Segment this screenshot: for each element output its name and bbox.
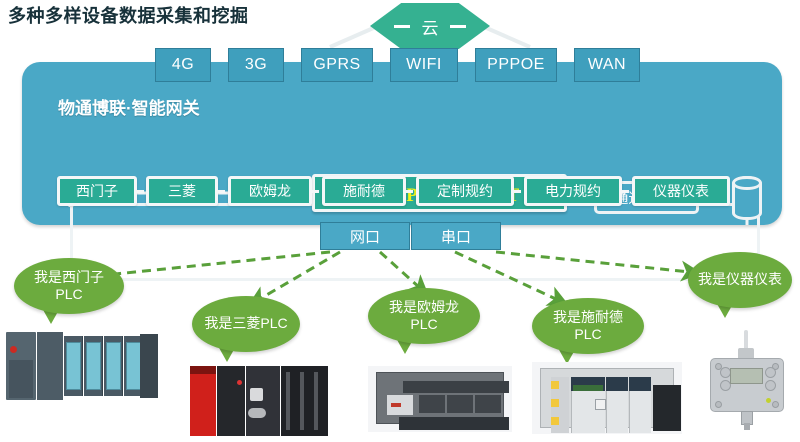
access-tech-label: GPRS	[313, 56, 360, 74]
database-cylinder-top-icon	[732, 176, 762, 190]
driver-chip-connector	[312, 190, 319, 193]
port-box-1[interactable]: 串口	[411, 222, 501, 250]
driver-chip-label: 定制规约	[437, 181, 493, 201]
schneider-tab	[551, 417, 559, 425]
schneider-rack	[540, 368, 674, 428]
siemens-cpu-module	[37, 332, 63, 400]
driver-chip-connector	[622, 190, 629, 193]
access-tech-wan[interactable]: WAN	[574, 48, 640, 82]
driver-chip-connector	[137, 190, 144, 193]
access-tech-label: PPPOE	[487, 56, 545, 74]
gateway-title: 物通博联·智能网关	[58, 94, 200, 119]
speech-bubble-3: 我是施耐德PLC	[532, 298, 644, 354]
driver-chip-label: 欧姆龙	[249, 181, 291, 201]
schneider-plc-image	[532, 362, 682, 434]
mitsubishi-status-led	[237, 380, 242, 385]
access-tech-wifi[interactable]: WIFI	[390, 48, 458, 82]
driver-chip-connector	[218, 190, 225, 193]
siemens-io-face	[126, 342, 141, 390]
speech-bubble-1: 我是三菱PLC	[192, 296, 300, 352]
mitsubishi-slot	[314, 372, 318, 430]
driver-chip-2[interactable]: 欧姆龙	[228, 176, 312, 206]
speech-bubble-label: 我是仪器仪表	[698, 271, 782, 289]
siemens-io-face	[66, 342, 81, 390]
driver-chip-5[interactable]: 电力规约	[524, 176, 622, 206]
access-tech-3g[interactable]: 3G	[228, 48, 284, 82]
cloud-label: 云	[370, 3, 490, 49]
instrument-probe	[744, 423, 750, 430]
siemens-io-face	[86, 342, 101, 390]
speech-bubble-0: 我是西门子PLC	[14, 258, 124, 314]
instrument-screw	[772, 401, 779, 408]
speech-bubble-label: 我是欧姆龙PLC	[376, 299, 472, 334]
omron-bottom-terminal-block	[399, 417, 509, 430]
access-tech-label: WIFI	[406, 56, 442, 74]
speech-bubble-label: 我是施耐德PLC	[540, 309, 636, 344]
omron-cover	[447, 395, 473, 413]
siemens-io-face	[106, 342, 121, 390]
access-tech-label: 4G	[172, 56, 194, 74]
driver-chip-connector	[406, 190, 413, 193]
cloud-node: 云	[370, 3, 490, 49]
mitsubishi-power-module	[190, 372, 216, 436]
port-box-0[interactable]: 网口	[320, 222, 410, 250]
speech-bubble-4: 我是仪器仪表	[688, 252, 792, 308]
schneider-module-top	[606, 377, 628, 391]
mitsubishi-cpu-module	[246, 366, 280, 436]
instrument-button-up[interactable]	[765, 367, 776, 378]
port-box-label: 网口	[350, 226, 380, 247]
instrument-meter-image	[708, 330, 786, 430]
driver-chip-label: 施耐德	[343, 181, 385, 201]
omron-cover	[419, 395, 445, 413]
schneider-module-top	[629, 377, 651, 391]
omron-cover	[475, 395, 501, 413]
siemens-plc-image	[6, 330, 158, 402]
siemens-power-door	[9, 360, 33, 398]
schneider-led-strip	[573, 385, 603, 391]
schneider-tab	[551, 399, 559, 407]
port-box-label: 串口	[441, 226, 471, 247]
schneider-ethernet-port	[595, 399, 606, 410]
speech-bubble-label: 我是西门子PLC	[22, 269, 116, 304]
instrument-power-led	[766, 398, 771, 403]
access-tech-4g[interactable]: 4G	[155, 48, 211, 82]
omron-plc-image	[368, 366, 512, 432]
driver-chip-3[interactable]: 施耐德	[322, 176, 406, 206]
schneider-connector-module	[653, 385, 681, 431]
instrument-lcd-display	[730, 368, 763, 384]
mitsubishi-module	[217, 366, 245, 436]
instrument-enclosure	[710, 358, 784, 412]
instrument-button-down[interactable]	[765, 380, 776, 391]
siemens-end-module	[140, 334, 158, 398]
access-tech-label: WAN	[588, 56, 626, 74]
instrument-screw	[715, 401, 722, 408]
driver-chip-label: 西门子	[76, 181, 118, 201]
diagram-canvas: 多种多样设备数据采集和挖掘 云 物通博联·智能网关 WDCP协议/MQTT 通道…	[0, 0, 800, 442]
driver-chip-label: 仪器仪表	[653, 181, 709, 201]
schneider-tab	[551, 381, 559, 389]
mitsubishi-ethernet-port	[250, 388, 263, 401]
mitsubishi-slot	[300, 372, 304, 430]
driver-chip-connector	[514, 190, 521, 193]
mitsubishi-power-top	[190, 366, 216, 374]
mitsubishi-serial-port	[248, 408, 266, 418]
omron-body	[376, 372, 504, 424]
omron-indicator	[391, 403, 401, 407]
mitsubishi-plc-image	[190, 358, 328, 438]
driver-chip-1[interactable]: 三菱	[146, 176, 218, 206]
omron-top-terminal-block	[403, 381, 509, 393]
driver-chip-label: 电力规约	[545, 181, 601, 201]
driver-chip-0[interactable]: 西门子	[57, 176, 137, 206]
mitsubishi-slot	[286, 372, 290, 430]
driver-chip-4[interactable]: 定制规约	[416, 176, 514, 206]
driver-chip-label: 三菱	[168, 181, 196, 201]
siemens-status-led	[10, 346, 17, 353]
speech-bubble-2: 我是欧姆龙PLC	[368, 288, 480, 344]
speech-bubble-label: 我是三菱PLC	[204, 315, 287, 333]
access-tech-gprs[interactable]: GPRS	[301, 48, 373, 82]
page-title: 多种多样设备数据采集和挖掘	[8, 2, 249, 28]
access-tech-label: 3G	[245, 56, 267, 74]
driver-chip-6[interactable]: 仪器仪表	[632, 176, 730, 206]
access-tech-pppoe[interactable]: PPPOE	[475, 48, 557, 82]
